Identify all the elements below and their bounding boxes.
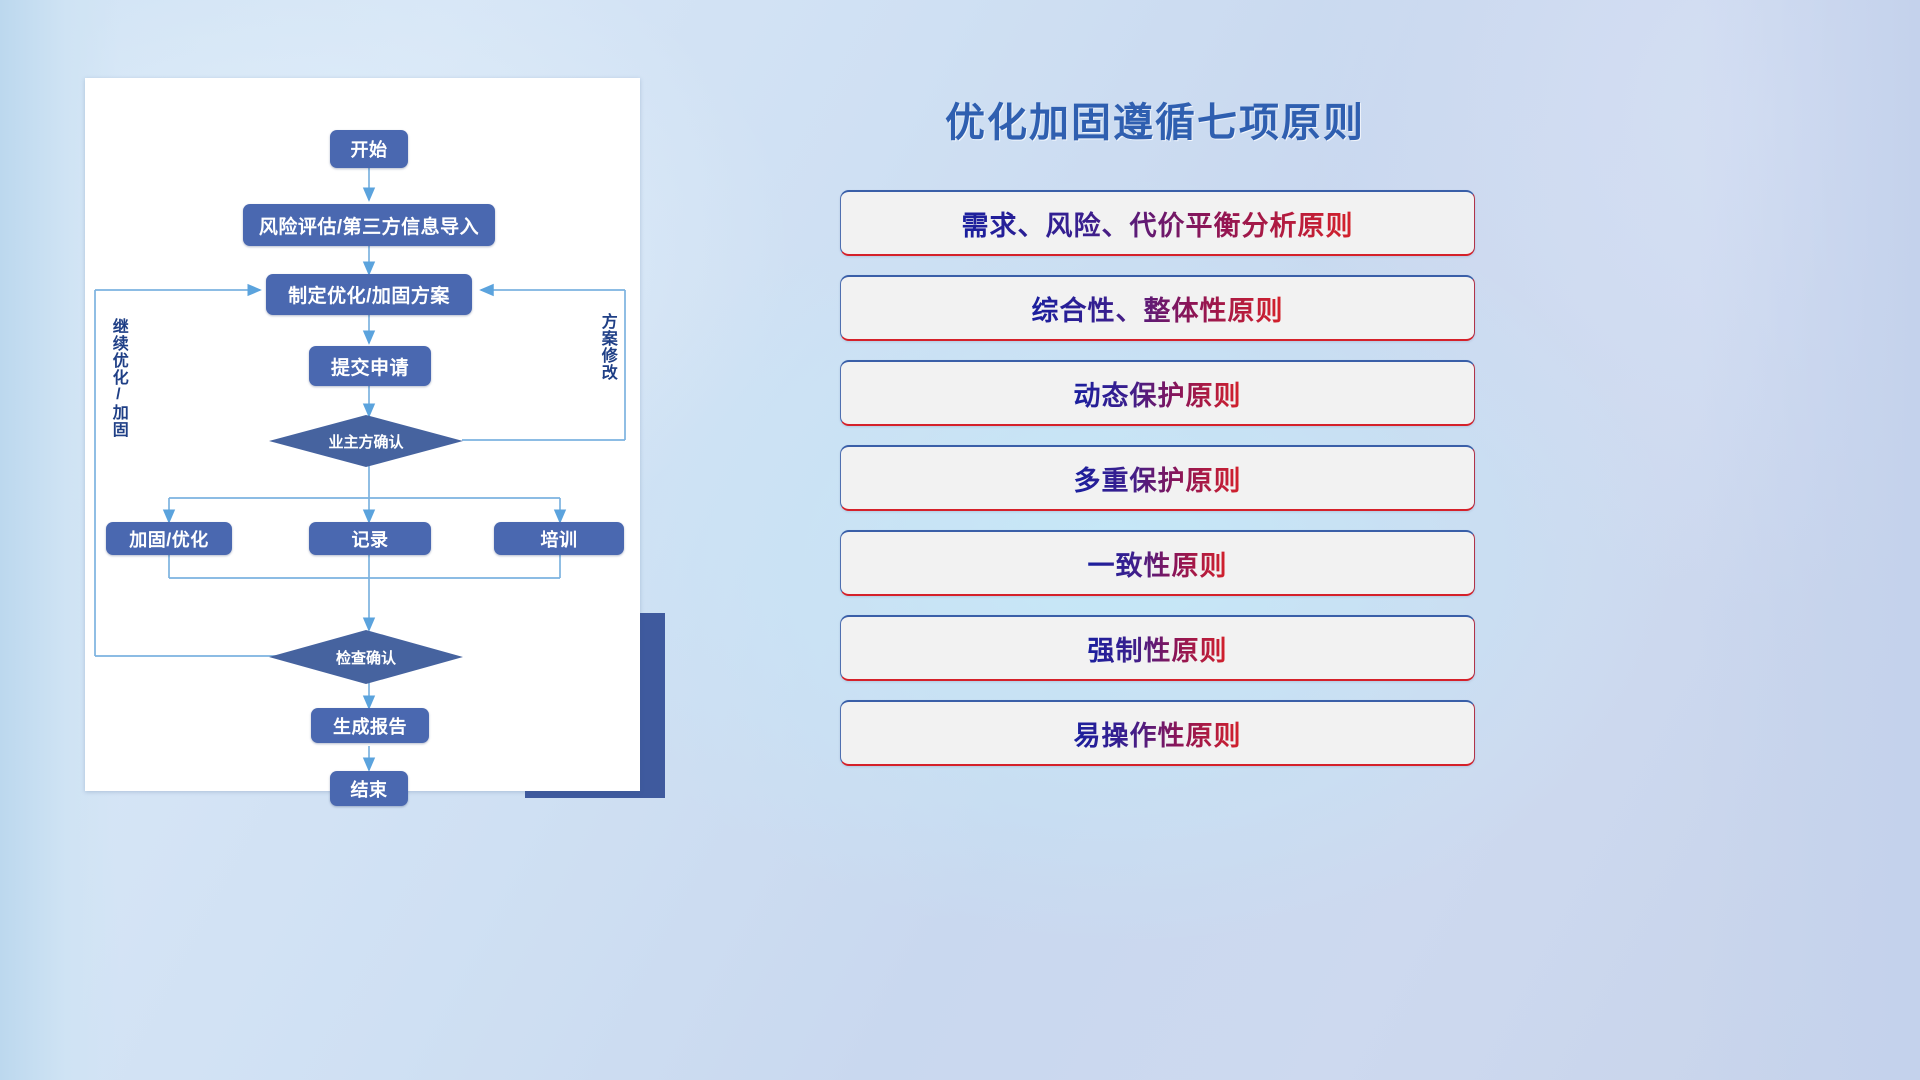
flow-node-label: 加固/优化 [129,526,209,552]
principle-list: 需求、风险、代价平衡分析原则 综合性、整体性原则 动态保护原则 多重保护原则 一… [840,190,1475,785]
panel-title: 优化加固遵循七项原则 [835,90,1475,148]
flow-node-label: 风险评估/第三方信息导入 [259,212,479,239]
slide-background: 开始 风险评估/第三方信息导入 制定优化/加固方案 提交申请 业主方确认 加固/… [0,0,1920,1080]
flow-node-training[interactable]: 培训 [494,522,624,555]
flow-edge-label-plan-revision: 方案修改 [598,313,615,413]
flow-node-risk-assessment[interactable]: 风险评估/第三方信息导入 [243,204,495,246]
flow-node-end[interactable]: 结束 [330,771,408,806]
flowchart-region: 开始 风险评估/第三方信息导入 制定优化/加固方案 提交申请 业主方确认 加固/… [85,78,650,793]
principle-item[interactable]: 一致性原则 [840,530,1475,596]
flow-node-plan[interactable]: 制定优化/加固方案 [266,274,472,315]
principle-label: 需求、风险、代价平衡分析原则 [962,204,1354,243]
flow-node-label: 开始 [351,136,388,162]
flow-node-label: 业主方确认 [328,431,403,452]
flow-node-label: 生成报告 [333,713,407,739]
flow-node-label: 记录 [352,526,389,552]
principle-label: 综合性、整体性原则 [1032,289,1284,328]
flow-node-reinforce-optimize[interactable]: 加固/优化 [106,522,232,555]
principles-panel: 优化加固遵循七项原则 需求、风险、代价平衡分析原则 综合性、整体性原则 动态保护… [835,80,1855,1020]
principle-label: 一致性原则 [1088,544,1228,583]
principle-item[interactable]: 易操作性原则 [840,700,1475,766]
flow-node-label: 制定优化/加固方案 [288,281,450,308]
flow-node-record[interactable]: 记录 [309,522,431,555]
principle-item[interactable]: 强制性原则 [840,615,1475,681]
flow-node-label: 培训 [541,526,578,552]
principle-item[interactable]: 需求、风险、代价平衡分析原则 [840,190,1475,256]
flow-node-label: 结束 [351,776,388,802]
principle-label: 多重保护原则 [1074,459,1242,498]
principle-item[interactable]: 动态保护原则 [840,360,1475,426]
flow-node-label: 检查确认 [336,647,396,668]
flow-node-label: 提交申请 [331,353,409,380]
principle-label: 强制性原则 [1088,629,1228,668]
principle-item[interactable]: 多重保护原则 [840,445,1475,511]
principle-label: 动态保护原则 [1074,374,1242,413]
flow-node-start[interactable]: 开始 [330,130,408,168]
flow-node-generate-report[interactable]: 生成报告 [311,708,429,743]
flow-edge-label-continue-optimize: 继续优化/加固 [109,318,126,448]
principle-item[interactable]: 综合性、整体性原则 [840,275,1475,341]
principle-label: 易操作性原则 [1074,714,1242,753]
flow-node-submit-application[interactable]: 提交申请 [309,346,431,386]
